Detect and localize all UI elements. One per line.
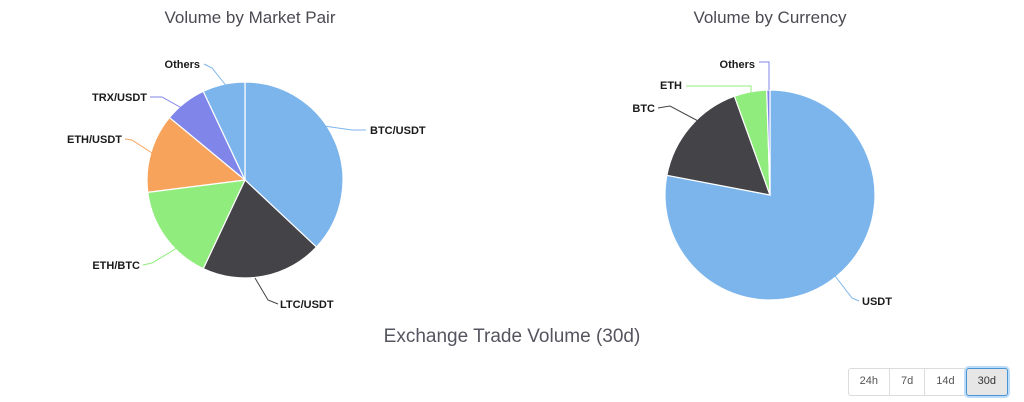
pie-data-label-trx-usdt: TRX/USDT	[92, 92, 147, 104]
pie-data-label-btc: BTC	[632, 103, 655, 115]
range-button-14d[interactable]: 14d	[924, 368, 965, 396]
pie-label-connector	[255, 278, 278, 304]
range-button-7d[interactable]: 7d	[889, 368, 924, 396]
time-range-selector[interactable]: 24h7d14d30d	[848, 368, 1008, 396]
pie-data-label-others: Others	[720, 59, 755, 71]
pie-label-connector	[759, 62, 769, 90]
pie-label-connector	[125, 139, 152, 153]
pie-label-connector	[658, 106, 700, 122]
range-button-24h[interactable]: 24h	[848, 368, 889, 396]
pie-data-label-eth-btc: ETH/BTC	[92, 260, 140, 272]
pie-data-label-usdt: USDT	[862, 296, 892, 308]
range-button-30d[interactable]: 30d	[966, 368, 1008, 396]
pie-data-label-eth-usdt: ETH/USDT	[67, 134, 122, 146]
pie-data-label-btc-usdt: BTC/USDT	[370, 125, 426, 137]
exchange-trade-volume-title: Exchange Trade Volume (30d)	[312, 326, 712, 348]
pie-data-label-others: Others	[165, 59, 200, 71]
pie-label-connector	[143, 248, 177, 265]
pie-data-label-eth: ETH	[660, 80, 682, 92]
pie-label-connector	[324, 126, 366, 130]
pie-data-label-ltc-usdt: LTC/USDT	[280, 299, 334, 311]
dashboard-root: Volume by Market Pair Volume by Currency…	[0, 0, 1024, 402]
